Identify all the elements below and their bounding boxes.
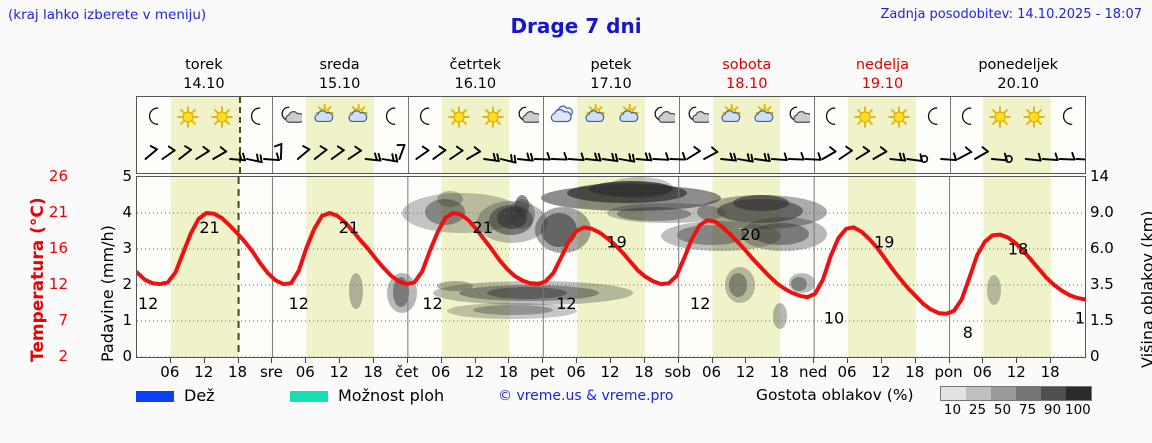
weather-icon-slot-11 — [509, 97, 543, 137]
day-header-3: petek17.10 — [543, 56, 679, 96]
meteogram-plot[interactable]: 12211221122112191220101981810 — [136, 176, 1086, 358]
cloud-blob-28 — [473, 305, 553, 315]
cloud-blob-14 — [617, 207, 691, 221]
temperature-label-13: 18 — [1008, 240, 1028, 259]
time-label-10: 18 — [499, 363, 518, 381]
cloud-blob-36 — [729, 273, 747, 297]
precipitation-tick-0: 5 — [110, 167, 132, 185]
cloud-density-swatch-3 — [1016, 387, 1041, 400]
time-label-14: 18 — [634, 363, 653, 381]
day-date: 15.10 — [272, 75, 408, 94]
time-label-24: 06 — [973, 363, 992, 381]
day-name: petek — [543, 56, 679, 75]
day-header-row: torek14.10sreda15.10četrtek16.10petek17.… — [136, 56, 1086, 96]
moon-cloud-icon — [683, 104, 709, 130]
cloud-blob-37 — [987, 275, 1001, 305]
sun-cloud-icon — [310, 104, 336, 130]
time-label-15: sob — [664, 363, 691, 381]
sun-icon — [1021, 104, 1047, 130]
time-label-26: 18 — [1041, 363, 1060, 381]
temperature-tick-0: 26 — [34, 167, 68, 185]
day-header-1: sreda15.10 — [272, 56, 408, 96]
weather-icon-slot-13 — [577, 97, 611, 137]
sun-icon — [175, 104, 201, 130]
sun-icon — [886, 104, 912, 130]
temperature-label-10: 10 — [824, 308, 844, 327]
cloud-blob-7 — [497, 207, 527, 229]
weather-icon-slot-26 — [1017, 97, 1051, 137]
cloud-blob-21 — [753, 223, 809, 245]
day-date: 20.10 — [950, 75, 1086, 94]
cloud-density-colorbar — [940, 386, 1092, 401]
time-label-25: 12 — [1007, 363, 1026, 381]
time-axis: 061218sre061218čet061218pet061218sob0612… — [136, 358, 1086, 382]
weather-icon-slot-1 — [171, 97, 205, 137]
sun-cloud-icon — [344, 104, 370, 130]
cloud-blob-26 — [487, 287, 567, 299]
forecast-symbol-band — [136, 96, 1086, 174]
precipitation-tick-3: 2 — [110, 275, 132, 293]
cloudheight-axis-title: Višina oblakov (km) — [1118, 168, 1144, 368]
cloud-blob-12 — [541, 213, 577, 247]
precipitation-tick-1: 4 — [110, 203, 132, 221]
cloud-density-value-3: 75 — [1015, 402, 1040, 418]
day-date: 16.10 — [407, 75, 543, 94]
day-header-4: sobota18.10 — [679, 56, 815, 96]
cloud-blob-34 — [773, 303, 787, 329]
precipitation-tick-5: 0 — [110, 347, 132, 365]
cloud-density-swatch-4 — [1041, 387, 1066, 400]
cloud-blob-33 — [791, 277, 807, 291]
temperature-label-14: 10 — [1075, 308, 1085, 327]
weather-icon-slot-23 — [916, 97, 950, 137]
weather-icon-slot-16 — [679, 97, 713, 137]
temperature-tick-5: 2 — [34, 347, 68, 365]
meteogram-svg: 12211221122112191220101981810 — [137, 177, 1085, 357]
moon-icon — [818, 104, 844, 130]
time-label-4: 06 — [296, 363, 315, 381]
day-header-6: ponedeljek20.10 — [950, 56, 1086, 96]
cloud-density-swatch-5 — [1066, 387, 1091, 400]
sun-cloud-icon — [750, 104, 776, 130]
sun-icon — [987, 104, 1013, 130]
cloud-density-value-2: 50 — [990, 402, 1015, 418]
plot-daylight-band-6 — [983, 177, 1051, 357]
sun-icon — [852, 104, 878, 130]
time-label-3: sre — [260, 363, 283, 381]
cloud-blob-29 — [607, 177, 673, 199]
temperature-tick-1: 21 — [34, 203, 68, 221]
cloud-icon — [547, 104, 573, 130]
time-label-16: 06 — [702, 363, 721, 381]
time-label-6: 18 — [363, 363, 382, 381]
wind-barb-row — [137, 137, 1085, 175]
weather-icon-slot-27 — [1051, 97, 1085, 137]
precipitation-tick-4: 1 — [110, 311, 132, 329]
sun-cloud-icon — [581, 104, 607, 130]
temperature-label-11: 19 — [874, 232, 894, 251]
time-label-1: 12 — [194, 363, 213, 381]
weather-icon-slot-4 — [272, 97, 306, 137]
temperature-label-12: 8 — [963, 323, 973, 342]
moon-icon — [920, 104, 946, 130]
time-label-2: 18 — [228, 363, 247, 381]
weather-icon-slot-18 — [746, 97, 780, 137]
weather-icon-slot-19 — [780, 97, 814, 137]
day-name: sreda — [272, 56, 408, 75]
cloud-density-value-1: 25 — [965, 402, 990, 418]
time-label-17: 12 — [736, 363, 755, 381]
time-label-21: 12 — [871, 363, 890, 381]
plot-daylight-band-0 — [171, 177, 239, 357]
moon-cloud-icon — [276, 104, 302, 130]
time-label-22: 18 — [905, 363, 924, 381]
moon-icon — [243, 104, 269, 130]
precipitation-tick-labels: 543210 — [108, 176, 132, 358]
weather-icon-slot-24 — [950, 97, 984, 137]
plot-daylight-band-1 — [306, 177, 374, 357]
moon-cloud-icon — [649, 104, 675, 130]
temperature-label-3: 21 — [339, 218, 359, 237]
time-label-18: 18 — [770, 363, 789, 381]
cloud-blob-30 — [349, 273, 363, 309]
moon-icon — [378, 104, 404, 130]
weather-icon-slot-25 — [983, 97, 1017, 137]
weather-icon-slot-15 — [645, 97, 679, 137]
temperature-label-9: 20 — [740, 225, 760, 244]
weather-icon-slot-17 — [713, 97, 747, 137]
weather-icon-slot-12 — [543, 97, 577, 137]
showers-legend-swatch — [290, 391, 328, 402]
sun-cloud-icon — [717, 104, 743, 130]
cloud-blob-19 — [733, 195, 789, 211]
weather-icon-slot-20 — [814, 97, 848, 137]
cloud-blob-31 — [437, 281, 473, 291]
rain-legend-swatch — [136, 391, 174, 402]
day-name: ponedeljek — [950, 56, 1086, 75]
time-label-7: čet — [395, 363, 418, 381]
time-label-9: 12 — [465, 363, 484, 381]
cloud-density-swatch-0 — [941, 387, 966, 400]
moon-cloud-icon — [513, 104, 539, 130]
sun-icon — [480, 104, 506, 130]
day-date: 14.10 — [136, 75, 272, 94]
weather-icon-slot-7 — [374, 97, 408, 137]
cloud-density-legend-label: Gostota oblakov (%) — [756, 386, 914, 404]
cloud-density-swatch-2 — [991, 387, 1016, 400]
day-date: 19.10 — [815, 75, 951, 94]
temperature-tick-labels: 2621161272 — [34, 176, 68, 358]
temperature-label-7: 19 — [606, 232, 626, 251]
temperature-tick-3: 12 — [34, 275, 68, 293]
time-label-11: pet — [530, 363, 555, 381]
plot-daylight-band-5 — [848, 177, 916, 357]
legend: Dež Možnost ploh © vreme.us & vreme.pro … — [136, 386, 1146, 436]
precipitation-axis-title: Padavine (mm/h) — [78, 176, 104, 362]
moon-icon — [1055, 104, 1081, 130]
time-label-5: 12 — [330, 363, 349, 381]
day-name: četrtek — [407, 56, 543, 75]
day-date: 18.10 — [679, 75, 815, 94]
time-label-23: pon — [934, 363, 962, 381]
weather-icon-slot-14 — [611, 97, 645, 137]
cloud-density-value-5: 100 — [1065, 402, 1090, 418]
cloudheight-axis-title-text: Višina oblakov (km) — [1138, 211, 1152, 368]
weather-icon-slot-5 — [306, 97, 340, 137]
temperature-label-2: 12 — [289, 294, 309, 313]
weather-icon-slot-21 — [848, 97, 882, 137]
time-label-13: 12 — [600, 363, 619, 381]
day-date: 17.10 — [543, 75, 679, 94]
time-label-8: 06 — [431, 363, 450, 381]
weather-icon-row — [137, 97, 1085, 137]
weather-icon-slot-6 — [340, 97, 374, 137]
cloud-density-value-4: 90 — [1040, 402, 1065, 418]
sun-cloud-icon — [615, 104, 641, 130]
moon-icon — [141, 104, 167, 130]
weather-icon-slot-9 — [442, 97, 476, 137]
moon-icon — [412, 104, 438, 130]
weather-icon-slot-0 — [137, 97, 171, 137]
temperature-tick-4: 7 — [34, 311, 68, 329]
wind-barbs-svg — [137, 137, 1085, 175]
temperature-label-0: 12 — [138, 294, 158, 313]
weather-icon-slot-8 — [408, 97, 442, 137]
rain-legend-label: Dež — [184, 386, 215, 405]
day-header-2: četrtek16.10 — [407, 56, 543, 96]
cloud-density-value-0: 10 — [940, 402, 965, 418]
temperature-label-6: 12 — [556, 294, 576, 313]
temperature-axis-title: Temperatura (°C) — [6, 176, 34, 362]
day-name: torek — [136, 56, 272, 75]
time-label-19: ned — [799, 363, 827, 381]
cloud-blob-4 — [437, 191, 463, 207]
cloud-density-swatch-1 — [966, 387, 991, 400]
day-header-0: torek14.10 — [136, 56, 272, 96]
time-label-20: 06 — [837, 363, 856, 381]
temperature-label-4: 12 — [422, 294, 442, 313]
moon-cloud-icon — [784, 104, 810, 130]
precipitation-tick-2: 3 — [110, 239, 132, 257]
temperature-label-8: 12 — [690, 294, 710, 313]
temperature-label-1: 21 — [199, 218, 219, 237]
time-label-12: 06 — [567, 363, 586, 381]
sun-icon — [209, 104, 235, 130]
time-label-0: 06 — [160, 363, 179, 381]
cloud-density-tick-labels: 1025507590100 — [940, 402, 1090, 418]
showers-legend-label: Možnost ploh — [338, 386, 444, 405]
weather-icon-slot-10 — [476, 97, 510, 137]
weather-icon-slot-22 — [882, 97, 916, 137]
weather-icon-slot-3 — [239, 97, 273, 137]
day-name: nedelja — [815, 56, 951, 75]
sun-icon — [446, 104, 472, 130]
day-name: sobota — [679, 56, 815, 75]
moon-icon — [954, 104, 980, 130]
temperature-label-5: 21 — [473, 218, 493, 237]
copyright-link[interactable]: © vreme.us & vreme.pro — [498, 388, 673, 404]
day-header-5: nedelja19.10 — [815, 56, 951, 96]
last-updated: Zadnja posodobitev: 14.10.2025 - 18:07 — [880, 7, 1142, 22]
temperature-tick-2: 16 — [34, 239, 68, 257]
weather-icon-slot-2 — [205, 97, 239, 137]
